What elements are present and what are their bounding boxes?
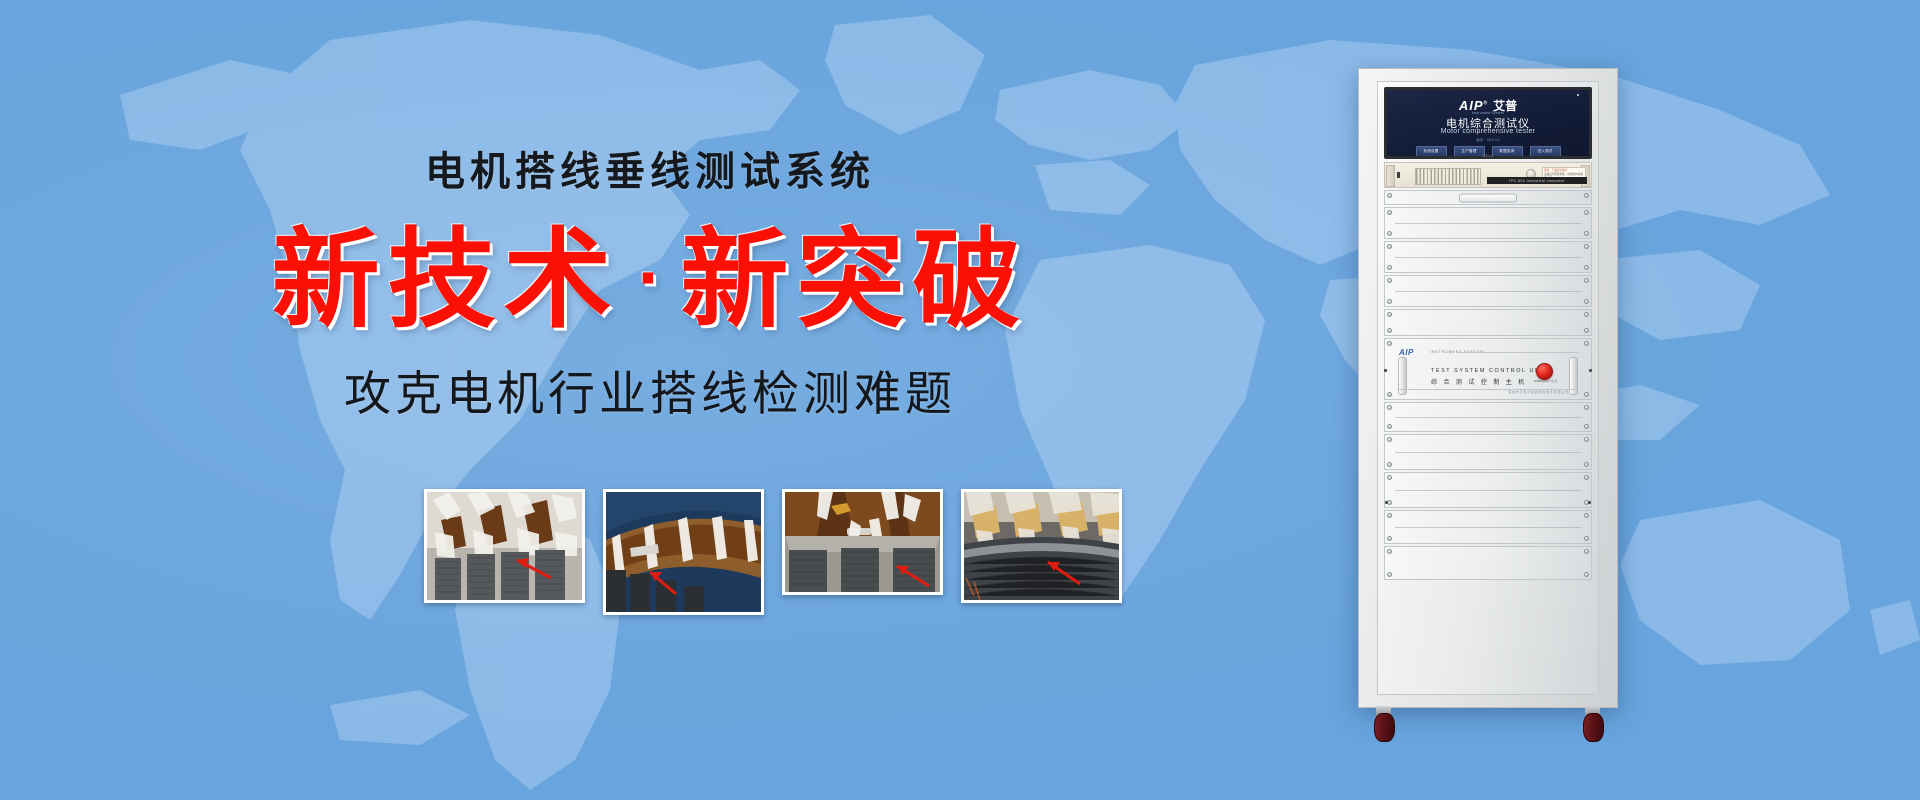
blank-panel-7 bbox=[1384, 472, 1592, 508]
blank-panel-3 bbox=[1384, 275, 1592, 307]
screen-version-text: 版本：V2.0.3.2 bbox=[1387, 138, 1589, 143]
industrial-pc-unit[interactable]: 注意：产品安全提示 请勿自行拆卸机箱，保修期内请联系厂家 IPC-620 Ind… bbox=[1384, 162, 1592, 188]
thumbnail-strip bbox=[424, 489, 1122, 615]
test-system-control-unit[interactable]: AIP INSTRUMENT SYSTEM TEST SYSTEM CONTRO… bbox=[1384, 338, 1592, 400]
motor-stator-coils-photo-2[interactable] bbox=[603, 489, 764, 615]
blank-panel-5 bbox=[1384, 402, 1592, 432]
control-unit-title-cn: 综 合 测 试 控 制 主 机 bbox=[1431, 377, 1527, 386]
promo-banner: 电机搭线垂线测试系统 新技术·新突破 攻克电机行业搭线检测难题 bbox=[0, 0, 1920, 800]
rack-drawer[interactable] bbox=[1384, 190, 1592, 205]
headline-block: 电机搭线垂线测试系统 新技术·新突破 攻克电机行业搭线检测难题 bbox=[0, 150, 1300, 421]
headline-separator-dot: · bbox=[620, 236, 681, 319]
motor-stator-coils-photo-1[interactable] bbox=[424, 489, 585, 603]
headline-left: 新技术 bbox=[272, 219, 620, 340]
motor-stator-coils-photo-4[interactable] bbox=[961, 489, 1122, 603]
emergency-stop-button[interactable] bbox=[1536, 363, 1553, 380]
blank-panel-8 bbox=[1384, 510, 1592, 544]
pc-vent-grille bbox=[1415, 168, 1481, 185]
monitor-brand-label: DELL bbox=[1384, 154, 1592, 159]
rack-caster-right bbox=[1583, 706, 1602, 742]
monitor-screen[interactable]: AIP®艾普 Instrument System 电机综合测试仪 Motor c… bbox=[1387, 90, 1589, 156]
blank-panel-2 bbox=[1384, 241, 1592, 273]
webcam-indicator-icon bbox=[1577, 94, 1579, 96]
control-unit-title-en: TEST SYSTEM CONTROL UNIT bbox=[1431, 368, 1548, 374]
pc-rack-ear-left bbox=[1386, 165, 1395, 187]
blank-panel-9 bbox=[1384, 546, 1592, 580]
screen-brand-registered-mark: ® bbox=[1483, 101, 1488, 107]
rack-caster-left bbox=[1374, 706, 1393, 742]
test-equipment-rack: AIP®艾普 Instrument System 电机综合测试仪 Motor c… bbox=[1358, 68, 1618, 708]
pc-model-label: IPC-620 Industrial computer bbox=[1487, 177, 1587, 184]
blank-panel-1 bbox=[1384, 207, 1592, 239]
control-unit-footer-text: 深圳市艾普计算机测控技术有限公司 bbox=[1508, 390, 1569, 394]
monitor-bezel: AIP®艾普 Instrument System 电机综合测试仪 Motor c… bbox=[1384, 87, 1592, 159]
motor-stator-coils-photo-3[interactable] bbox=[782, 489, 943, 595]
control-unit-brand: AIP bbox=[1399, 348, 1414, 357]
blank-panel-6 bbox=[1384, 434, 1592, 470]
emergency-stop-label: EMERGENCY 急 停 bbox=[1533, 380, 1558, 384]
pc-drive-slot bbox=[1397, 172, 1400, 178]
rack-inner-frame: AIP®艾普 Instrument System 电机综合测试仪 Motor c… bbox=[1377, 81, 1599, 695]
main-headline: 新技术·新突破 bbox=[0, 220, 1300, 341]
eyebrow-text: 电机搭线垂线测试系统 bbox=[0, 150, 1300, 194]
headline-right: 新突破 bbox=[680, 219, 1028, 340]
screen-title-en: Motor comprehensive tester bbox=[1387, 128, 1589, 135]
blank-panel-4 bbox=[1384, 309, 1592, 336]
drawer-handle[interactable] bbox=[1459, 193, 1517, 202]
tagline-text: 攻克电机行业搭线检测难题 bbox=[0, 367, 1300, 421]
